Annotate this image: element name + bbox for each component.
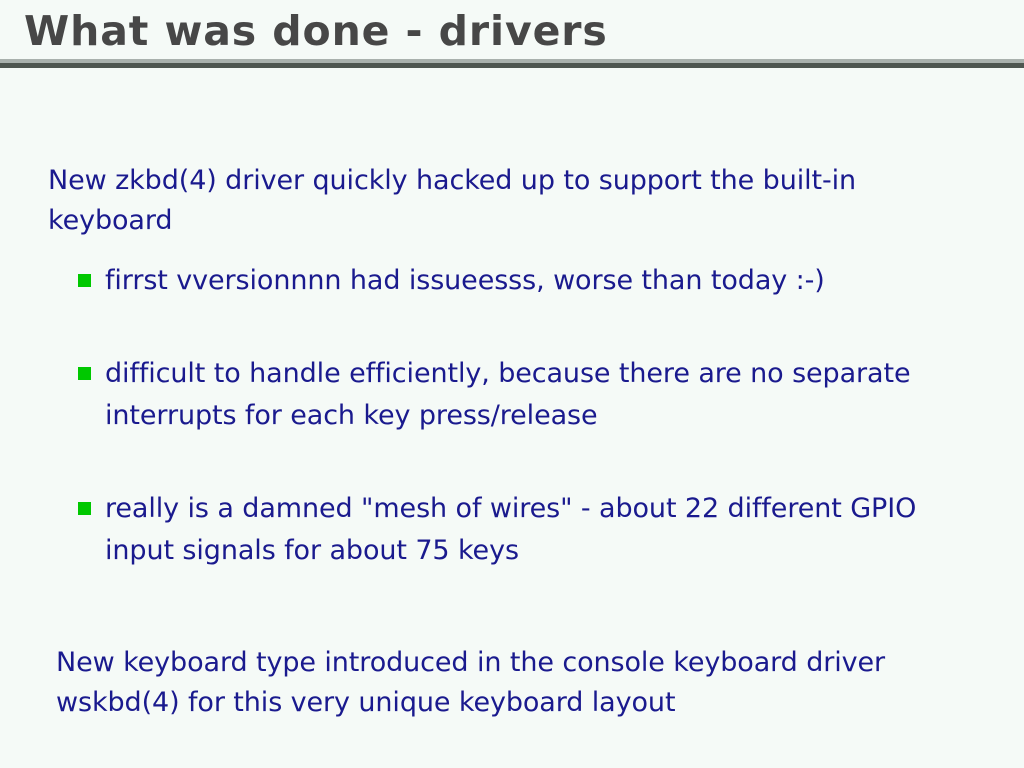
list-item-label: really is a damned "mesh of wires" - abo… — [105, 488, 958, 572]
green-square-bullet-icon — [78, 274, 91, 287]
presentation-slide: What was done - drivers New zkbd(4) driv… — [0, 0, 1024, 768]
green-square-bullet-icon — [78, 502, 91, 515]
title-divider-dark-band — [0, 63, 1024, 68]
intro-paragraph: New zkbd(4) driver quickly hacked up to … — [48, 161, 928, 241]
page-title: What was done - drivers — [24, 4, 608, 58]
slide-body: New zkbd(4) driver quickly hacked up to … — [0, 70, 1024, 768]
list-item: difficult to handle efficiently, because… — [78, 353, 958, 437]
green-square-bullet-icon — [78, 367, 91, 380]
title-divider — [0, 59, 1024, 68]
list-item-label: difficult to handle efficiently, because… — [105, 353, 958, 437]
outro-paragraph: New keyboard type introduced in the cons… — [56, 643, 956, 723]
list-item: firrst vversionnnn had issueesss, worse … — [78, 260, 958, 302]
list-item-label: firrst vversionnnn had issueesss, worse … — [105, 260, 958, 302]
slide-header: What was done - drivers — [0, 0, 1024, 70]
list-item: really is a damned "mesh of wires" - abo… — [78, 488, 958, 572]
